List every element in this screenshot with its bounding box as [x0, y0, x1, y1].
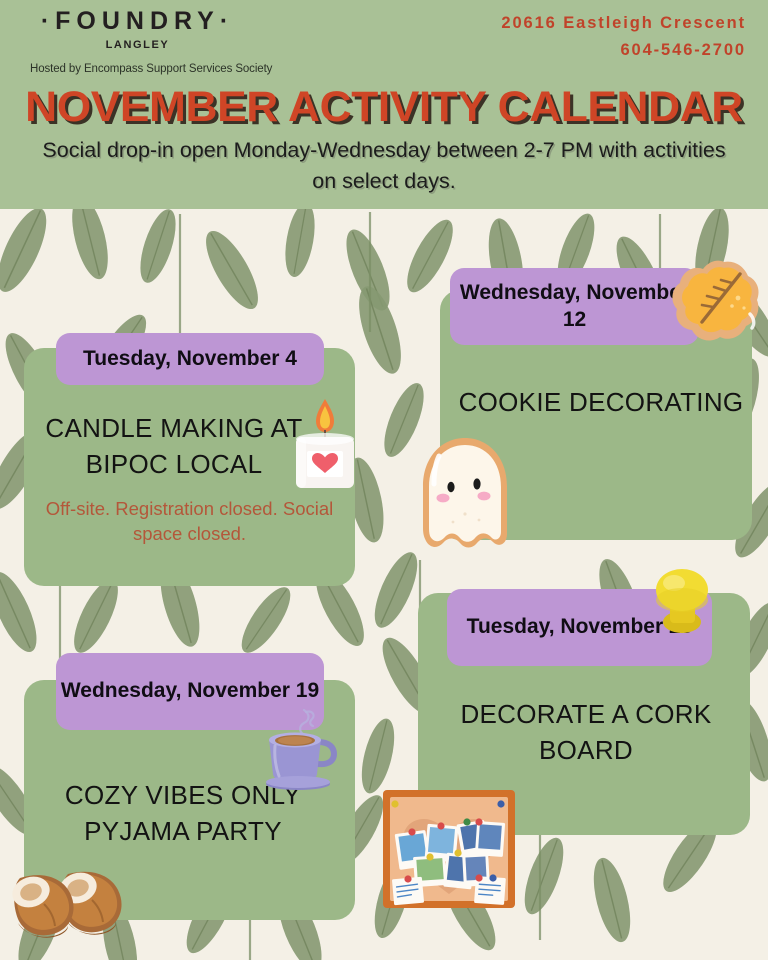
cork-board-icon: [381, 784, 517, 914]
logo-langley-text: LANGLEY: [30, 39, 245, 51]
slippers-icon: [6, 854, 131, 940]
card-date-banner: Tuesday, November 4: [56, 333, 324, 385]
logo-foundry-text: ·FOUNDRY·: [30, 8, 245, 36]
leaf-cookie-icon: [662, 256, 766, 362]
foundry-logo: ·FOUNDRY· LANGLEY: [30, 8, 245, 51]
coffee-mug-icon: [258, 706, 340, 790]
pushpin-icon: [650, 566, 715, 638]
contact-info: 20616 Eastleigh Crescent 604-546-2700: [501, 10, 746, 63]
candle-icon: [288, 393, 362, 492]
card-activity-title: DECORATE A CORK BOARD: [430, 697, 742, 769]
card-activity-title: CANDLE MAKING AT BIPOC LOCAL: [24, 411, 324, 483]
page-title: NOVEMBER ACTIVITY CALENDAR: [0, 83, 768, 132]
card-note: Off-site. Registration closed. Social sp…: [24, 497, 355, 546]
page-subtitle: Social drop-in open Monday-Wednesday bet…: [40, 135, 728, 196]
ghost-cookie-icon: [405, 434, 525, 558]
phone-text: 604-546-2700: [501, 37, 746, 64]
poster-canvas: ·FOUNDRY· LANGLEY Hosted by Encompass Su…: [0, 0, 768, 960]
address-text: 20616 Eastleigh Crescent: [501, 10, 746, 37]
header-band: ·FOUNDRY· LANGLEY Hosted by Encompass Su…: [0, 0, 768, 209]
card-activity-title: COOKIE DECORATING: [450, 385, 752, 421]
hosted-by-text: Hosted by Encompass Support Services Soc…: [30, 63, 360, 75]
